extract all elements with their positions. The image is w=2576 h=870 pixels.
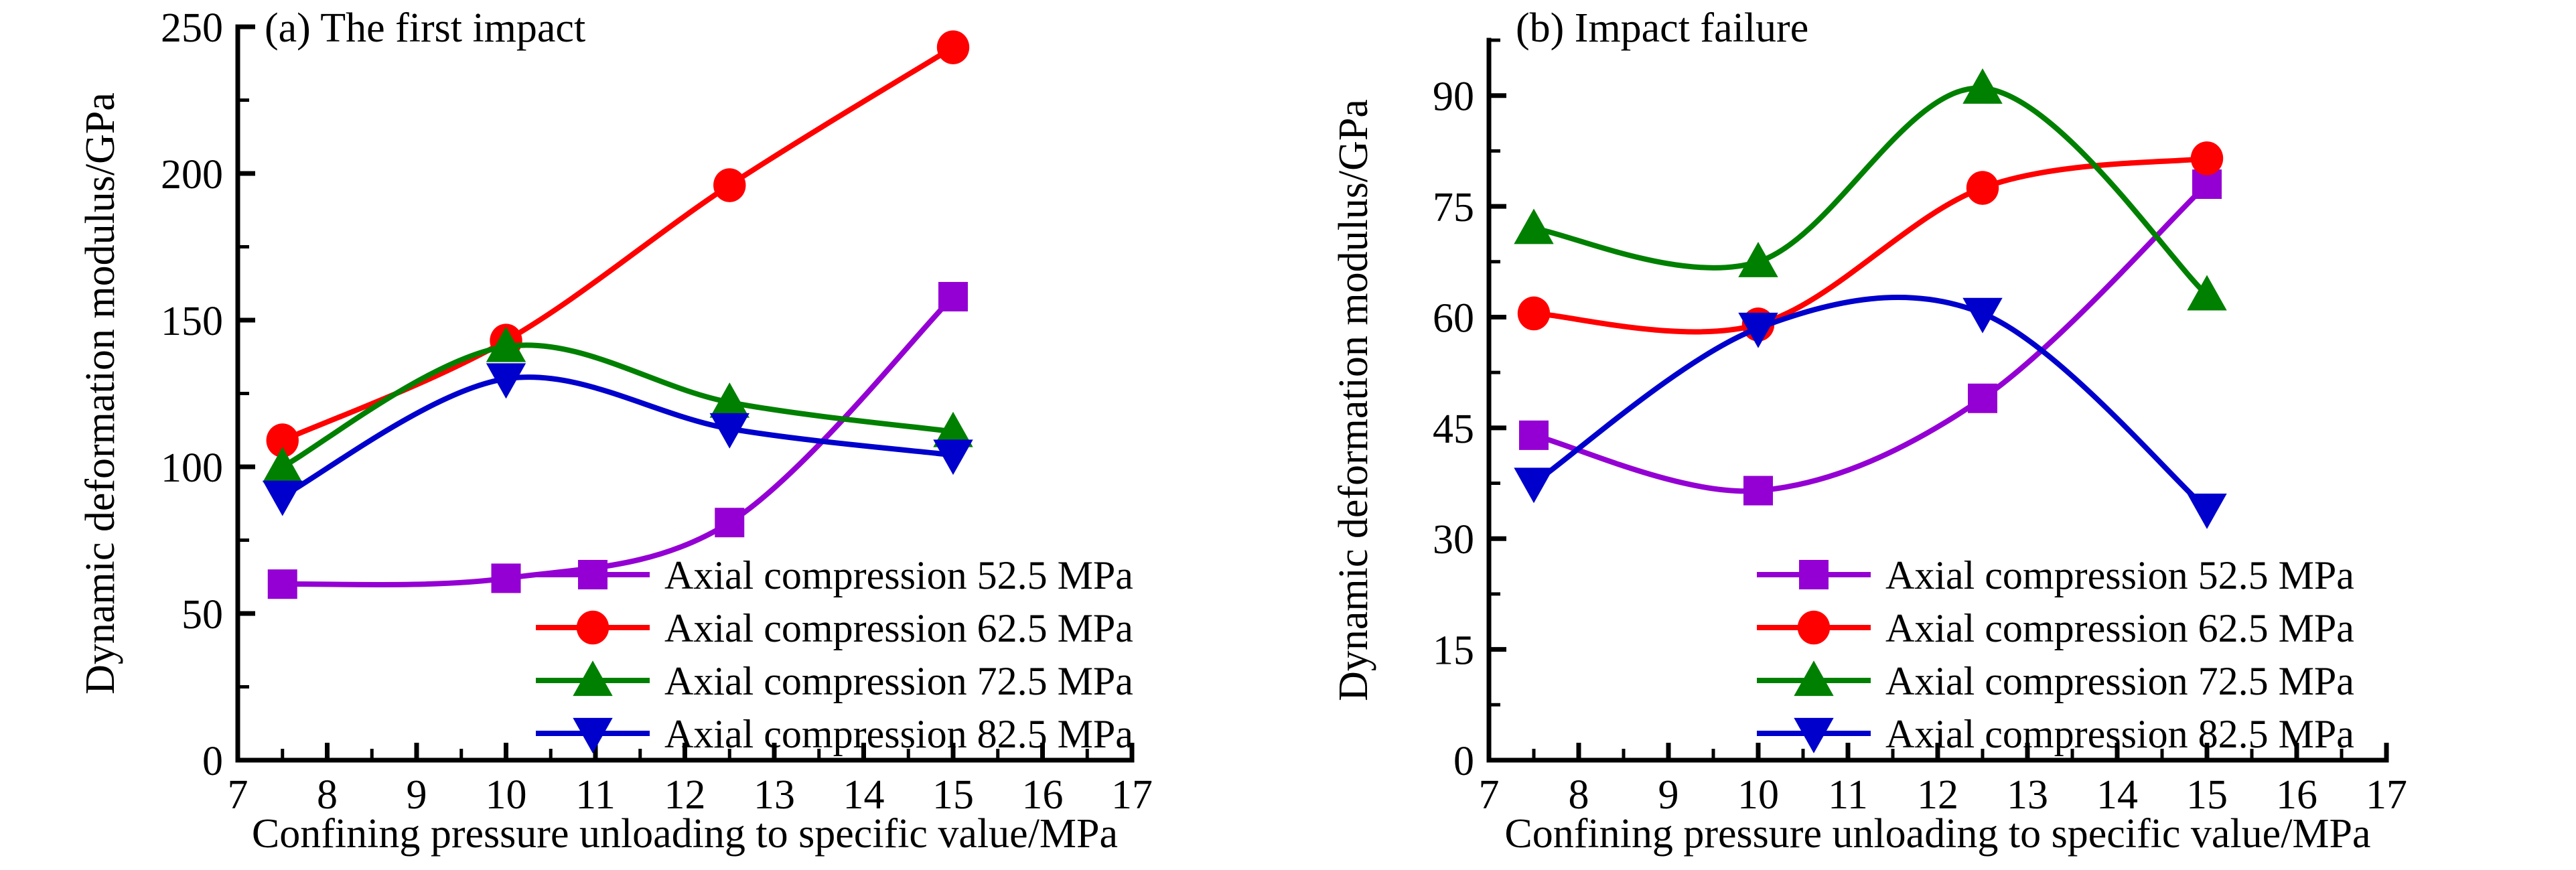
y-tick-label: 150: [161, 299, 223, 344]
x-tick-label: 17: [1111, 772, 1153, 818]
data-point-marker: [933, 439, 973, 475]
panel-title: (a) The first impact: [265, 5, 585, 51]
y-tick-label: 200: [161, 152, 223, 198]
x-tick-label: 12: [1917, 772, 1958, 818]
data-point-marker: [263, 481, 302, 516]
data-point-marker: [1968, 384, 1997, 413]
x-tick-label: 15: [2186, 772, 2228, 818]
y-tick-label: 250: [161, 5, 223, 51]
y-tick-label: 60: [1433, 295, 1474, 341]
data-point-marker: [268, 569, 297, 599]
data-point-marker: [1519, 421, 1549, 450]
legend-label: Axial compression 82.5 MPa: [1885, 712, 2354, 756]
y-axis-label: Dynamic deformation modulus/GPa: [1331, 99, 1376, 701]
series-3: [263, 363, 973, 516]
series-line: [283, 48, 953, 441]
y-tick-label: 45: [1433, 407, 1474, 452]
legend-marker: [578, 560, 607, 589]
data-point-marker: [1966, 171, 1999, 205]
series-3: [1514, 297, 2226, 529]
y-tick-label: 90: [1433, 74, 1474, 120]
x-tick-label: 11: [575, 772, 616, 818]
y-tick-label: 0: [202, 739, 223, 784]
x-tick-label: 8: [317, 772, 338, 818]
x-tick-label: 17: [2366, 772, 2407, 818]
series-line: [1534, 158, 2207, 332]
data-point-marker: [715, 508, 744, 537]
legend-label: Axial compression 72.5 MPa: [1885, 659, 2354, 703]
x-tick-label: 7: [228, 772, 248, 818]
chart-svg-b: (b) Impact failureDynamic deformation mo…: [1288, 0, 2576, 870]
series-line: [1534, 184, 2207, 491]
series-line: [1534, 88, 2207, 295]
data-point-marker: [1738, 242, 1778, 277]
chart-panel-a: (a) The first impactDynamic deformation …: [0, 0, 1288, 870]
y-axis-label: Dynamic deformation modulus/GPa: [78, 92, 123, 695]
data-point-marker: [492, 563, 521, 593]
figure-root: (a) The first impactDynamic deformation …: [0, 0, 2576, 870]
chart-svg-a: (a) The first impactDynamic deformation …: [0, 0, 1288, 870]
x-tick-label: 15: [932, 772, 974, 818]
x-tick-label: 7: [1479, 772, 1500, 818]
data-point-marker: [713, 168, 745, 202]
series-line: [283, 297, 953, 585]
series-1: [1518, 141, 2223, 342]
panel-title: (b) Impact failure: [1516, 5, 1808, 51]
legend-label: Axial compression 82.5 MPa: [664, 712, 1133, 756]
data-point-marker: [1962, 298, 2002, 334]
y-tick-label: 50: [182, 592, 223, 638]
legend: Axial compression 52.5 MPaAxial compress…: [536, 553, 1133, 756]
legend-label: Axial compression 52.5 MPa: [664, 553, 1133, 597]
legend-marker: [1799, 560, 1829, 589]
y-tick-label: 0: [1453, 739, 1474, 784]
series-line: [283, 377, 953, 496]
y-tick-label: 15: [1433, 628, 1474, 674]
x-tick-label: 10: [486, 772, 527, 818]
legend-label: Axial compression 72.5 MPa: [664, 659, 1133, 703]
data-point-marker: [2187, 494, 2226, 529]
legend-label: Axial compression 62.5 MPa: [664, 606, 1133, 650]
x-tick-label: 14: [2096, 772, 2138, 818]
data-point-marker: [1518, 297, 1550, 331]
legend-label: Axial compression 62.5 MPa: [1885, 606, 2354, 650]
y-tick-label: 100: [161, 445, 223, 491]
legend-marker: [1798, 611, 1830, 645]
x-tick-label: 10: [1737, 772, 1779, 818]
data-point-marker: [1743, 476, 1773, 506]
data-point-marker: [263, 447, 302, 482]
legend: Axial compression 52.5 MPaAxial compress…: [1757, 553, 2354, 756]
series-0: [1519, 169, 2222, 506]
x-tick-label: 12: [664, 772, 706, 818]
data-point-marker: [937, 30, 969, 64]
data-point-marker: [2191, 141, 2223, 175]
x-tick-label: 13: [2007, 772, 2048, 818]
x-tick-label: 14: [843, 772, 885, 818]
legend-marker: [577, 611, 609, 645]
x-axis-label: Confining pressure unloading to specific…: [1504, 811, 2370, 857]
x-tick-label: 16: [1022, 772, 1064, 818]
x-tick-label: 8: [1569, 772, 1589, 818]
x-tick-label: 11: [1828, 772, 1868, 818]
data-point-marker: [1514, 467, 1553, 503]
x-axis-label: Confining pressure unloading to specific…: [252, 811, 1118, 857]
data-point-marker: [938, 282, 968, 311]
legend-label: Axial compression 52.5 MPa: [1885, 553, 2354, 597]
x-tick-label: 9: [407, 772, 427, 818]
data-point-marker: [1962, 68, 2002, 104]
chart-panel-b: (b) Impact failureDynamic deformation mo…: [1288, 0, 2576, 870]
x-tick-label: 9: [1658, 772, 1679, 818]
x-tick-label: 13: [754, 772, 795, 818]
x-tick-label: 16: [2276, 772, 2317, 818]
y-tick-label: 30: [1433, 517, 1474, 563]
y-tick-label: 75: [1433, 185, 1474, 230]
data-point-marker: [1514, 208, 1553, 244]
